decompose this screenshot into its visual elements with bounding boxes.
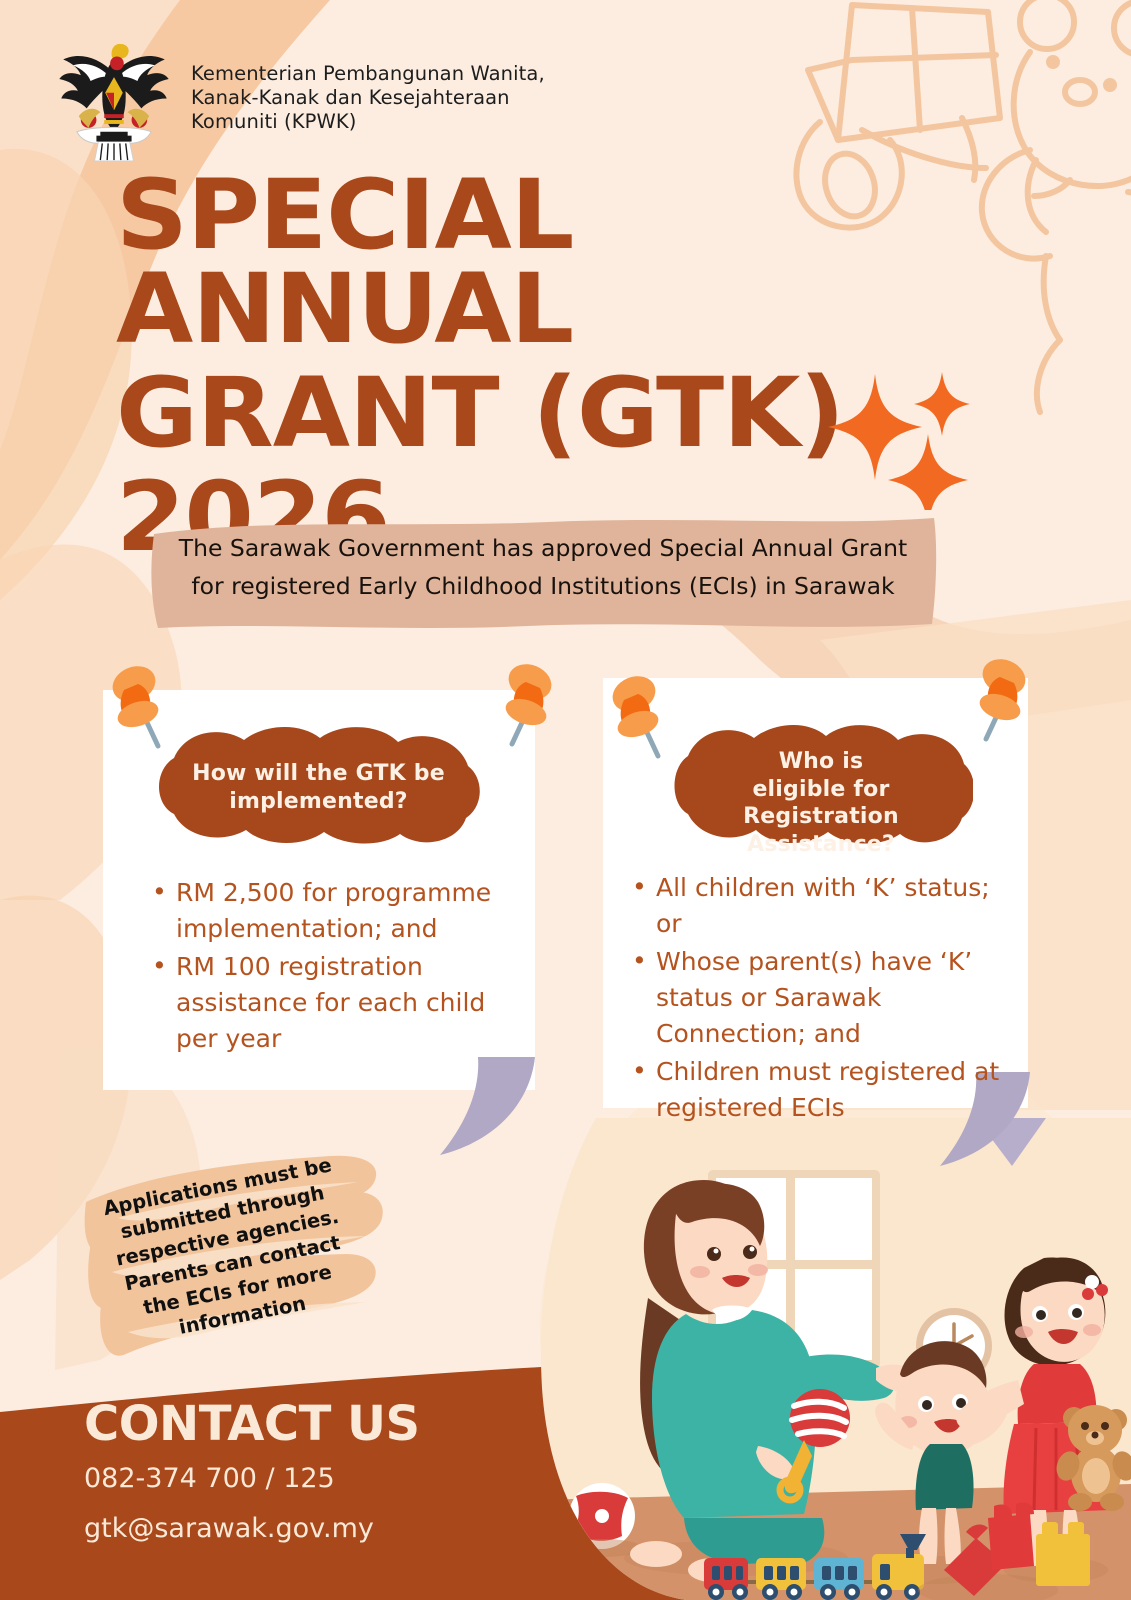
list-item: RM 2,500 for programme implementation; a… (148, 875, 528, 947)
title-line-1: SPECIAL ANNUAL (116, 168, 1031, 356)
contact-email[interactable]: gtk@sarawak.gov.my (84, 1510, 420, 1548)
pushpin-icon (600, 672, 678, 762)
ministry-name: Kementerian Pembangunan Wanita, Kanak-Ka… (191, 38, 545, 133)
banner-line-2: for registered Early Childhood Instituti… (178, 568, 908, 606)
sparkle-stars-icon (812, 360, 982, 510)
bullet-list-eligibility: All children with ‘K’ status; or Whose p… (628, 870, 1018, 1128)
banner-text: The Sarawak Government has approved Spec… (148, 508, 938, 605)
page-curl-left-card (400, 1055, 545, 1160)
bullet-list-implementation: RM 2,500 for programme implementation; a… (148, 875, 528, 1059)
contact-phone[interactable]: 082-374 700 / 125 (84, 1460, 420, 1498)
sarawak-coat-of-arms (55, 38, 173, 163)
subtitle-banner: The Sarawak Government has approved Spec… (148, 508, 938, 634)
banner-line-1: The Sarawak Government has approved Spec… (178, 530, 908, 568)
contact-section: CONTACT US 082-374 700 / 125 gtk@sarawak… (84, 1400, 420, 1549)
poster-canvas: Kementerian Pembangunan Wanita, Kanak-Ka… (0, 0, 1131, 1600)
pushpin-icon (100, 662, 178, 752)
poster-header: Kementerian Pembangunan Wanita, Kanak-Ka… (55, 38, 545, 163)
pushpin-icon (486, 660, 564, 750)
list-item: RM 100 registration assistance for each … (148, 949, 528, 1057)
heading-label-right: Who is eligible for Registration Assista… (676, 748, 966, 859)
list-item: Children must registered at registered E… (628, 1054, 1018, 1126)
contact-title: CONTACT US (84, 1400, 420, 1448)
list-item: All children with ‘K’ status; or (628, 870, 1018, 942)
teacher-with-children-illustration (536, 1118, 1131, 1600)
list-item: Whose parent(s) have ‘K’ status or Saraw… (628, 944, 1018, 1052)
heading-label-left: How will the GTK be implemented? (162, 760, 475, 815)
pushpin-icon (960, 655, 1038, 745)
